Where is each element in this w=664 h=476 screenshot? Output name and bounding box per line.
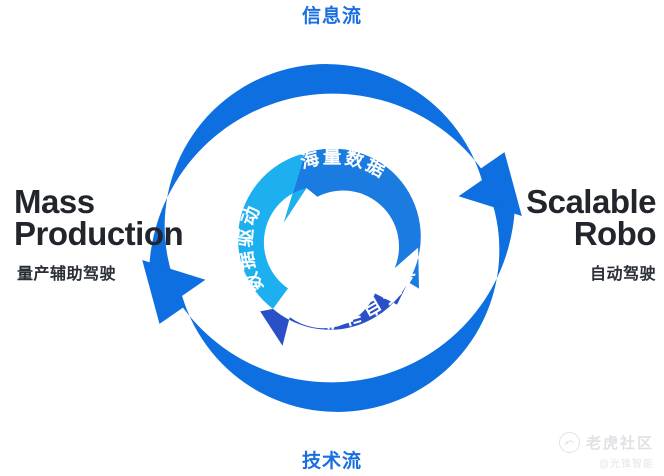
node-mass-production-subtitle: 量产辅助驾驶 xyxy=(17,260,183,284)
node-scalable-robo-title-line2: Robo xyxy=(526,218,656,250)
node-mass-production-title-line2: Production xyxy=(14,218,183,250)
node-scalable-robo-title: Scalable Robo xyxy=(526,186,656,251)
inner-label-closed-loop: 闭环自动化 xyxy=(317,262,418,331)
outer-arrow-bottom xyxy=(142,198,515,412)
node-mass-production-title: Mass Production xyxy=(14,186,183,251)
node-mass-production: Mass Production 量产辅助驾驶 xyxy=(14,186,183,284)
node-scalable-robo-subtitle: 自动驾驶 xyxy=(526,260,656,284)
flow-label-top: 信息流 xyxy=(0,1,664,28)
node-scalable-robo-title-line1: Scalable xyxy=(526,186,656,218)
watermark-brand: 老虎社区 xyxy=(586,432,654,453)
node-mass-production-title-line1: Mass xyxy=(14,186,183,218)
watermark-handle: @光锥智能 xyxy=(559,455,654,470)
watermark: 老虎社区 @光锥智能 xyxy=(559,432,654,470)
node-scalable-robo: Scalable Robo 自动驾驶 xyxy=(526,186,656,284)
tiger-logo-icon xyxy=(559,432,580,453)
diagram-canvas: 海量数据 闭环自动化 数据驱动 信息流 技术流 Mass Production … xyxy=(0,0,664,476)
